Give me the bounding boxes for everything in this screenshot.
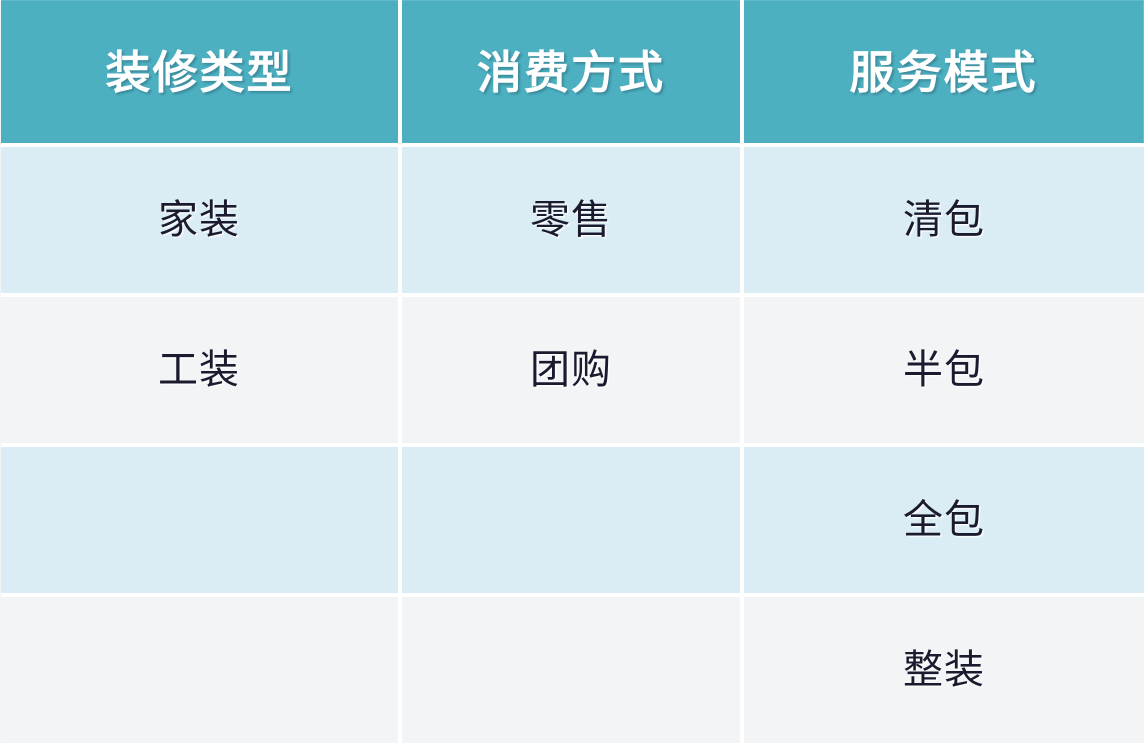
table-cell-consumption-method: 团购 [402, 297, 740, 443]
column-header-consumption-method: 消费方式 [402, 0, 740, 143]
table-cell-value: 全包 [903, 500, 985, 540]
table-cell-value: 清包 [903, 200, 985, 240]
table-cell-renovation-type [0, 447, 398, 593]
table-cell-value: 团购 [530, 350, 612, 390]
table-row: 工装 团购 半包 [0, 297, 1144, 443]
table-cell-renovation-type [0, 597, 398, 743]
table-cell-service-model: 整装 [744, 597, 1144, 743]
table-row: 家装 零售 清包 [0, 147, 1144, 293]
table-cell-consumption-method: 零售 [402, 147, 740, 293]
table-cell-consumption-method [402, 597, 740, 743]
table-row: 整装 [0, 597, 1144, 743]
column-header-label: 消费方式 [477, 50, 665, 95]
table-cell-renovation-type: 家装 [0, 147, 398, 293]
comparison-table: 装修类型 消费方式 服务模式 家装 零售 清包 工装 团购 半包 [0, 0, 1144, 746]
table-cell-renovation-type: 工装 [0, 297, 398, 443]
table-cell-service-model: 清包 [744, 147, 1144, 293]
table-cell-consumption-method [402, 447, 740, 593]
table-cell-value: 整装 [903, 650, 985, 690]
column-header-renovation-type: 装修类型 [0, 0, 398, 143]
table-cell-value: 半包 [903, 350, 985, 390]
table-header-row: 装修类型 消费方式 服务模式 [0, 0, 1144, 143]
table-row: 全包 [0, 447, 1144, 593]
table-cell-service-model: 半包 [744, 297, 1144, 443]
column-header-service-model: 服务模式 [744, 0, 1144, 143]
table-cell-value: 零售 [530, 200, 612, 240]
table-cell-service-model: 全包 [744, 447, 1144, 593]
table-cell-value: 工装 [158, 350, 240, 390]
column-header-label: 服务模式 [849, 50, 1037, 95]
column-header-label: 装修类型 [105, 50, 293, 95]
table-cell-value: 家装 [158, 200, 240, 240]
